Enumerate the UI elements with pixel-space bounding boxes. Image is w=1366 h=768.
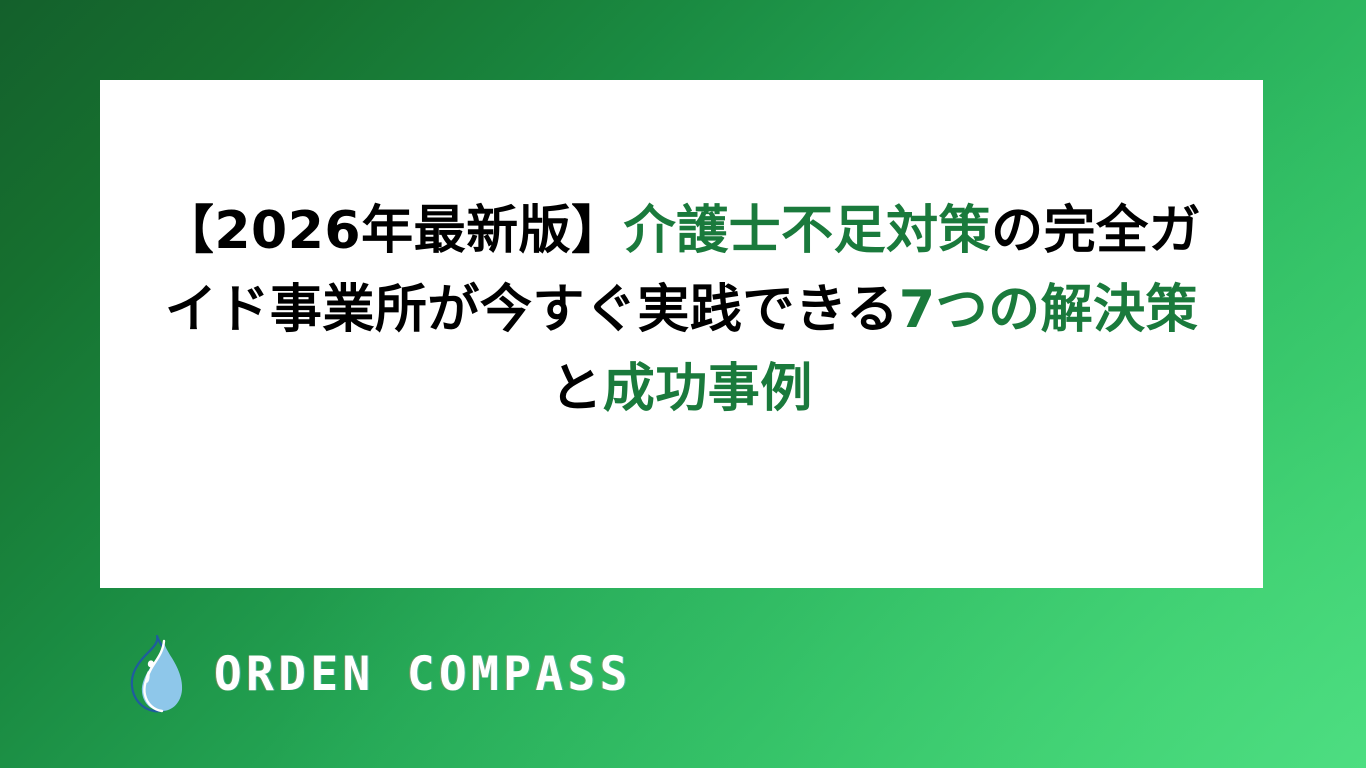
title-segment-topic: 介護士不足対策 [624,201,992,261]
water-droplet-logo-icon [128,634,190,714]
title-segment-solutions: 7つの解決策 [899,280,1198,340]
title-card-canvas: 【2026年最新版】介護士不足対策の完全ガイド事業所が今すぐ実践できる7つの解決… [0,0,1366,768]
headline-card: 【2026年最新版】介護士不足対策の完全ガイド事業所が今すぐ実践できる7つの解決… [100,80,1263,588]
brand-lockup: ORDEN COMPASS [128,634,640,714]
title-segment-conjunction: と [550,359,603,419]
title-segment-cases: 成功事例 [603,359,813,419]
headline-block: 【2026年最新版】介護士不足対策の完全ガイド事業所が今すぐ実践できる7つの解決… [100,192,1263,429]
brand-name-text: ORDEN COMPASS [214,651,632,698]
title-segment-date: 【2026年最新版】 [162,201,624,261]
page-title: 【2026年最新版】介護士不足対策の完全ガイド事業所が今すぐ実践できる7つの解決… [160,192,1203,429]
